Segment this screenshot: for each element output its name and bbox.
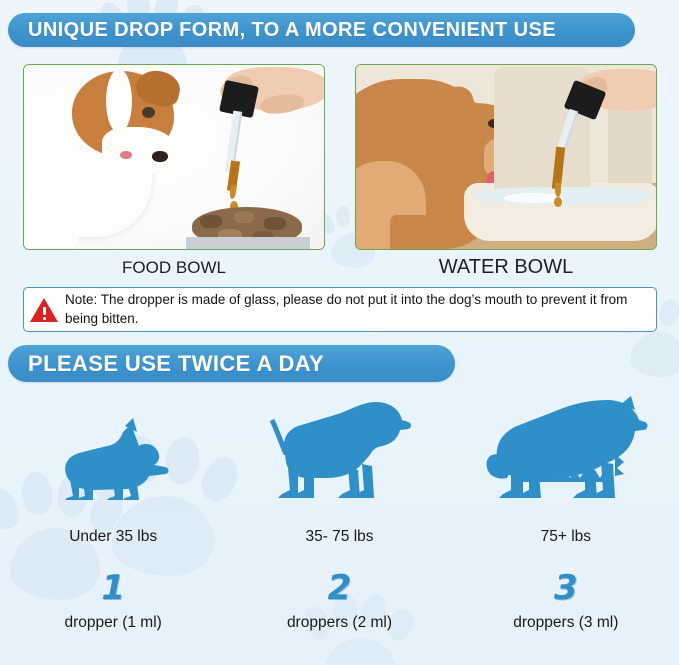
dose-count-large: 3: [554, 568, 578, 608]
dog-leg: [46, 215, 72, 250]
weight-label-medium: 35- 75 lbs: [305, 528, 373, 546]
amount-label-medium: droppers (2 ml): [287, 614, 392, 632]
warning-triangle-icon: [30, 296, 60, 323]
weight-label-small: Under 35 lbs: [69, 528, 157, 546]
shiba-leg: [390, 215, 430, 250]
banner-middle-label: PLEASE USE TWICE A DAY: [28, 351, 324, 377]
kibble-piece: [264, 217, 286, 230]
dog-tongue: [120, 151, 132, 159]
dropper-tip: [555, 183, 561, 197]
water-bowl-scene: [356, 65, 656, 249]
amount-label-small: dropper (1 ml): [64, 614, 161, 632]
small-dog-silhouette-icon: [53, 392, 173, 512]
oil-drop: [554, 197, 562, 207]
dog-nose: [152, 151, 168, 162]
photo-water-bowl: [355, 64, 657, 250]
dog-eye: [142, 107, 155, 118]
dose-count-small: 1: [101, 568, 125, 608]
banner-please-use-twice-a-day: PLEASE USE TWICE A DAY: [8, 345, 455, 382]
kibble-piece: [200, 215, 222, 228]
note-box: Note: The dropper is made of glass, plea…: [23, 287, 657, 332]
infographic-page: UNIQUE DROP FORM, TO A MORE CONVENIENT U…: [0, 0, 679, 665]
banner-unique-drop-form: UNIQUE DROP FORM, TO A MORE CONVENIENT U…: [8, 13, 635, 47]
dosage-row: Under 35 lbs 1 dropper (1 ml) 35- 75 lbs: [0, 392, 679, 665]
dog-muzzle: [102, 127, 178, 175]
caption-water-bowl: WATER BOWL: [355, 256, 657, 279]
note-text: Note: The dropper is made of glass, plea…: [65, 291, 648, 327]
photo-food-bowl: [23, 64, 325, 250]
dosage-column-large: 75+ lbs 3 droppers (3 ml): [453, 392, 679, 665]
caption-food-bowl: FOOD BOWL: [23, 258, 325, 278]
amount-label-large: droppers (3 ml): [513, 614, 618, 632]
food-bowl: [186, 237, 310, 250]
food-bowl-scene: [24, 65, 324, 249]
dosage-column-medium: 35- 75 lbs 2 droppers (2 ml): [226, 392, 452, 665]
weight-label-large: 75+ lbs: [541, 528, 591, 546]
kibble-piece: [234, 211, 254, 223]
banner-top-label: UNIQUE DROP FORM, TO A MORE CONVENIENT U…: [28, 19, 556, 42]
large-dog-silhouette-icon: [481, 392, 651, 512]
medium-dog-silhouette-icon: [264, 392, 414, 512]
dosage-column-small: Under 35 lbs 1 dropper (1 ml): [0, 392, 226, 665]
dog-blaze: [106, 69, 132, 133]
dose-count-medium: 2: [328, 568, 352, 608]
